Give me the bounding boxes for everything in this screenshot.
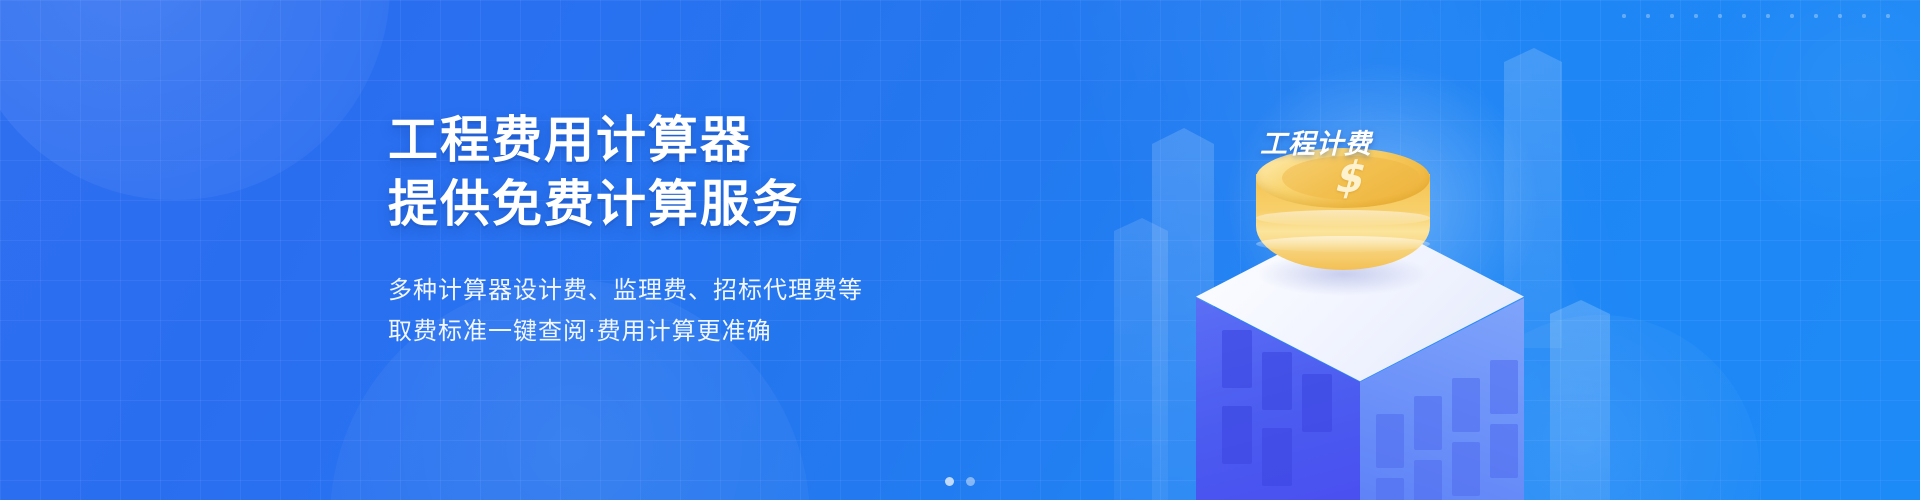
carousel-dot-2[interactable] xyxy=(966,477,975,486)
window xyxy=(1452,378,1480,432)
window xyxy=(1376,478,1404,500)
coin-rib xyxy=(1256,236,1430,252)
window xyxy=(1452,442,1480,496)
window xyxy=(1490,424,1518,478)
headline-line-1: 工程费用计算器 xyxy=(388,111,752,169)
headline-line-2: 提供免费计算服务 xyxy=(388,176,948,232)
window xyxy=(1302,374,1332,432)
window xyxy=(1490,360,1518,414)
window xyxy=(1414,460,1442,500)
subtitle-line-1: 多种计算器设计费、监理费、招标代理费等 xyxy=(388,270,948,311)
window xyxy=(1222,330,1252,388)
page-title: 工程费用计算器 提供免费计算服务 xyxy=(388,112,948,232)
coin-stack-icon: $ xyxy=(1248,148,1438,298)
hero-banner: 工程费用计算器 提供免费计算服务 多种计算器设计费、监理费、招标代理费等 取费标… xyxy=(0,0,1920,500)
page-subtitle: 多种计算器设计费、监理费、招标代理费等 取费标准一键查阅·费用计算更准确 xyxy=(388,270,948,352)
coin-inner-face: $ xyxy=(1282,156,1420,200)
window xyxy=(1414,396,1442,450)
window xyxy=(1262,352,1292,410)
hero-illustration: $ 工程计费 xyxy=(1100,0,1660,500)
carousel-dot-1[interactable] xyxy=(945,477,954,486)
decor-tower-4 xyxy=(1114,218,1168,500)
illustration-label: 工程计费 xyxy=(1260,122,1372,161)
coin-rib xyxy=(1256,210,1430,226)
dollar-sign-icon: $ xyxy=(1275,154,1427,202)
window xyxy=(1376,414,1404,468)
window xyxy=(1262,428,1292,486)
carousel-pagination[interactable] xyxy=(945,477,975,486)
subtitle-line-2: 取费标准一键查阅·费用计算更准确 xyxy=(388,311,948,352)
banner-copy: 工程费用计算器 提供免费计算服务 多种计算器设计费、监理费、招标代理费等 取费标… xyxy=(388,112,948,352)
window xyxy=(1222,406,1252,464)
decor-circle-top-left xyxy=(0,0,390,200)
decor-tower-3 xyxy=(1550,300,1610,500)
